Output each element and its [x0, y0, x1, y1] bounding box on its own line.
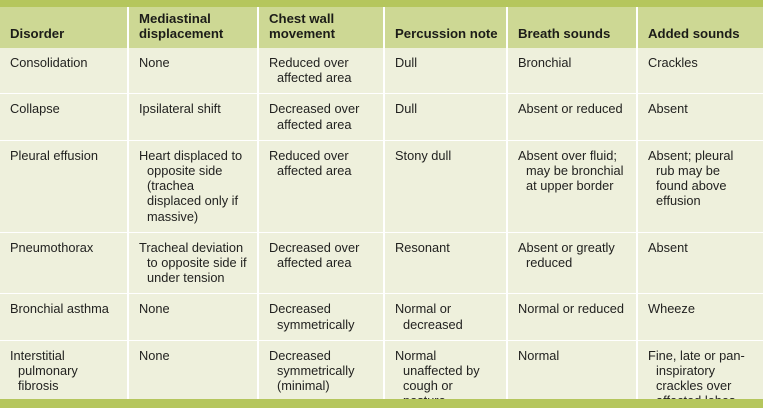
- cell-chest_wall_movement: Decreased over affected area: [258, 94, 384, 140]
- table-row: Interstitial pulmonary fibrosisNoneDecre…: [0, 340, 763, 408]
- cell-chest_wall_movement: Reduced over affected area: [258, 48, 384, 94]
- cell-breath_sounds: Absent over fluid; may be bronchial at u…: [507, 140, 637, 232]
- cell-chest_wall_movement: Decreased over affected area: [258, 232, 384, 294]
- cell-mediastinal_displacement: Heart displaced to opposite side (trache…: [128, 140, 258, 232]
- cell-chest_wall_movement: Decreased symmetrically (minimal): [258, 340, 384, 408]
- cell-percussion_note: Stony dull: [384, 140, 507, 232]
- cell-chest_wall_movement: Decreased symmetrically: [258, 294, 384, 340]
- cell-disorder: Bronchial asthma: [0, 294, 128, 340]
- cell-percussion_note: Dull: [384, 48, 507, 94]
- cell-breath_sounds: Normal: [507, 340, 637, 408]
- cell-mediastinal_displacement: None: [128, 294, 258, 340]
- cell-disorder: Interstitial pulmonary fibrosis: [0, 340, 128, 408]
- top-accent-bar: [0, 0, 763, 7]
- bottom-accent-bar: [0, 399, 763, 408]
- cell-percussion_note: Resonant: [384, 232, 507, 294]
- cell-mediastinal_displacement: None: [128, 48, 258, 94]
- cell-disorder: Pneumothorax: [0, 232, 128, 294]
- cell-mediastinal_displacement: Tracheal deviation to opposite side if u…: [128, 232, 258, 294]
- cell-chest_wall_movement: Reduced over affected area: [258, 140, 384, 232]
- table-figure: DisorderMediastinal displacementChest wa…: [0, 0, 763, 408]
- cell-added_sounds: Fine, late or pan-inspiratory crackles o…: [637, 340, 763, 408]
- table-body: ConsolidationNoneReduced over affected a…: [0, 48, 763, 408]
- cell-added_sounds: Absent: [637, 94, 763, 140]
- cell-breath_sounds: Absent or reduced: [507, 94, 637, 140]
- cell-added_sounds: Wheeze: [637, 294, 763, 340]
- cell-breath_sounds: Normal or reduced: [507, 294, 637, 340]
- table-header-row: DisorderMediastinal displacementChest wa…: [0, 7, 763, 48]
- column-header-breath_sounds: Breath sounds: [507, 7, 637, 48]
- column-header-mediastinal_displacement: Mediastinal displacement: [128, 7, 258, 48]
- cell-added_sounds: Absent; pleural rub may be found above e…: [637, 140, 763, 232]
- table-row: Pleural effusionHeart displaced to oppos…: [0, 140, 763, 232]
- cell-percussion_note: Dull: [384, 94, 507, 140]
- cell-added_sounds: Crackles: [637, 48, 763, 94]
- cell-disorder: Consolidation: [0, 48, 128, 94]
- clinical-signs-table: DisorderMediastinal displacementChest wa…: [0, 7, 763, 408]
- table-row: Bronchial asthmaNoneDecreased symmetrica…: [0, 294, 763, 340]
- column-header-disorder: Disorder: [0, 7, 128, 48]
- cell-disorder: Pleural effusion: [0, 140, 128, 232]
- table-row: PneumothoraxTracheal deviation to opposi…: [0, 232, 763, 294]
- cell-disorder: Collapse: [0, 94, 128, 140]
- column-header-chest_wall_movement: Chest wall movement: [258, 7, 384, 48]
- table-header: DisorderMediastinal displacementChest wa…: [0, 7, 763, 48]
- cell-breath_sounds: Absent or greatly reduced: [507, 232, 637, 294]
- cell-percussion_note: Normal or decreased: [384, 294, 507, 340]
- cell-mediastinal_displacement: None: [128, 340, 258, 408]
- table-row: ConsolidationNoneReduced over affected a…: [0, 48, 763, 94]
- cell-mediastinal_displacement: Ipsilateral shift: [128, 94, 258, 140]
- cell-percussion_note: Normal unaffected by cough or posture: [384, 340, 507, 408]
- column-header-percussion_note: Percussion note: [384, 7, 507, 48]
- cell-breath_sounds: Bronchial: [507, 48, 637, 94]
- column-header-added_sounds: Added sounds: [637, 7, 763, 48]
- table-row: CollapseIpsilateral shiftDecreased over …: [0, 94, 763, 140]
- cell-added_sounds: Absent: [637, 232, 763, 294]
